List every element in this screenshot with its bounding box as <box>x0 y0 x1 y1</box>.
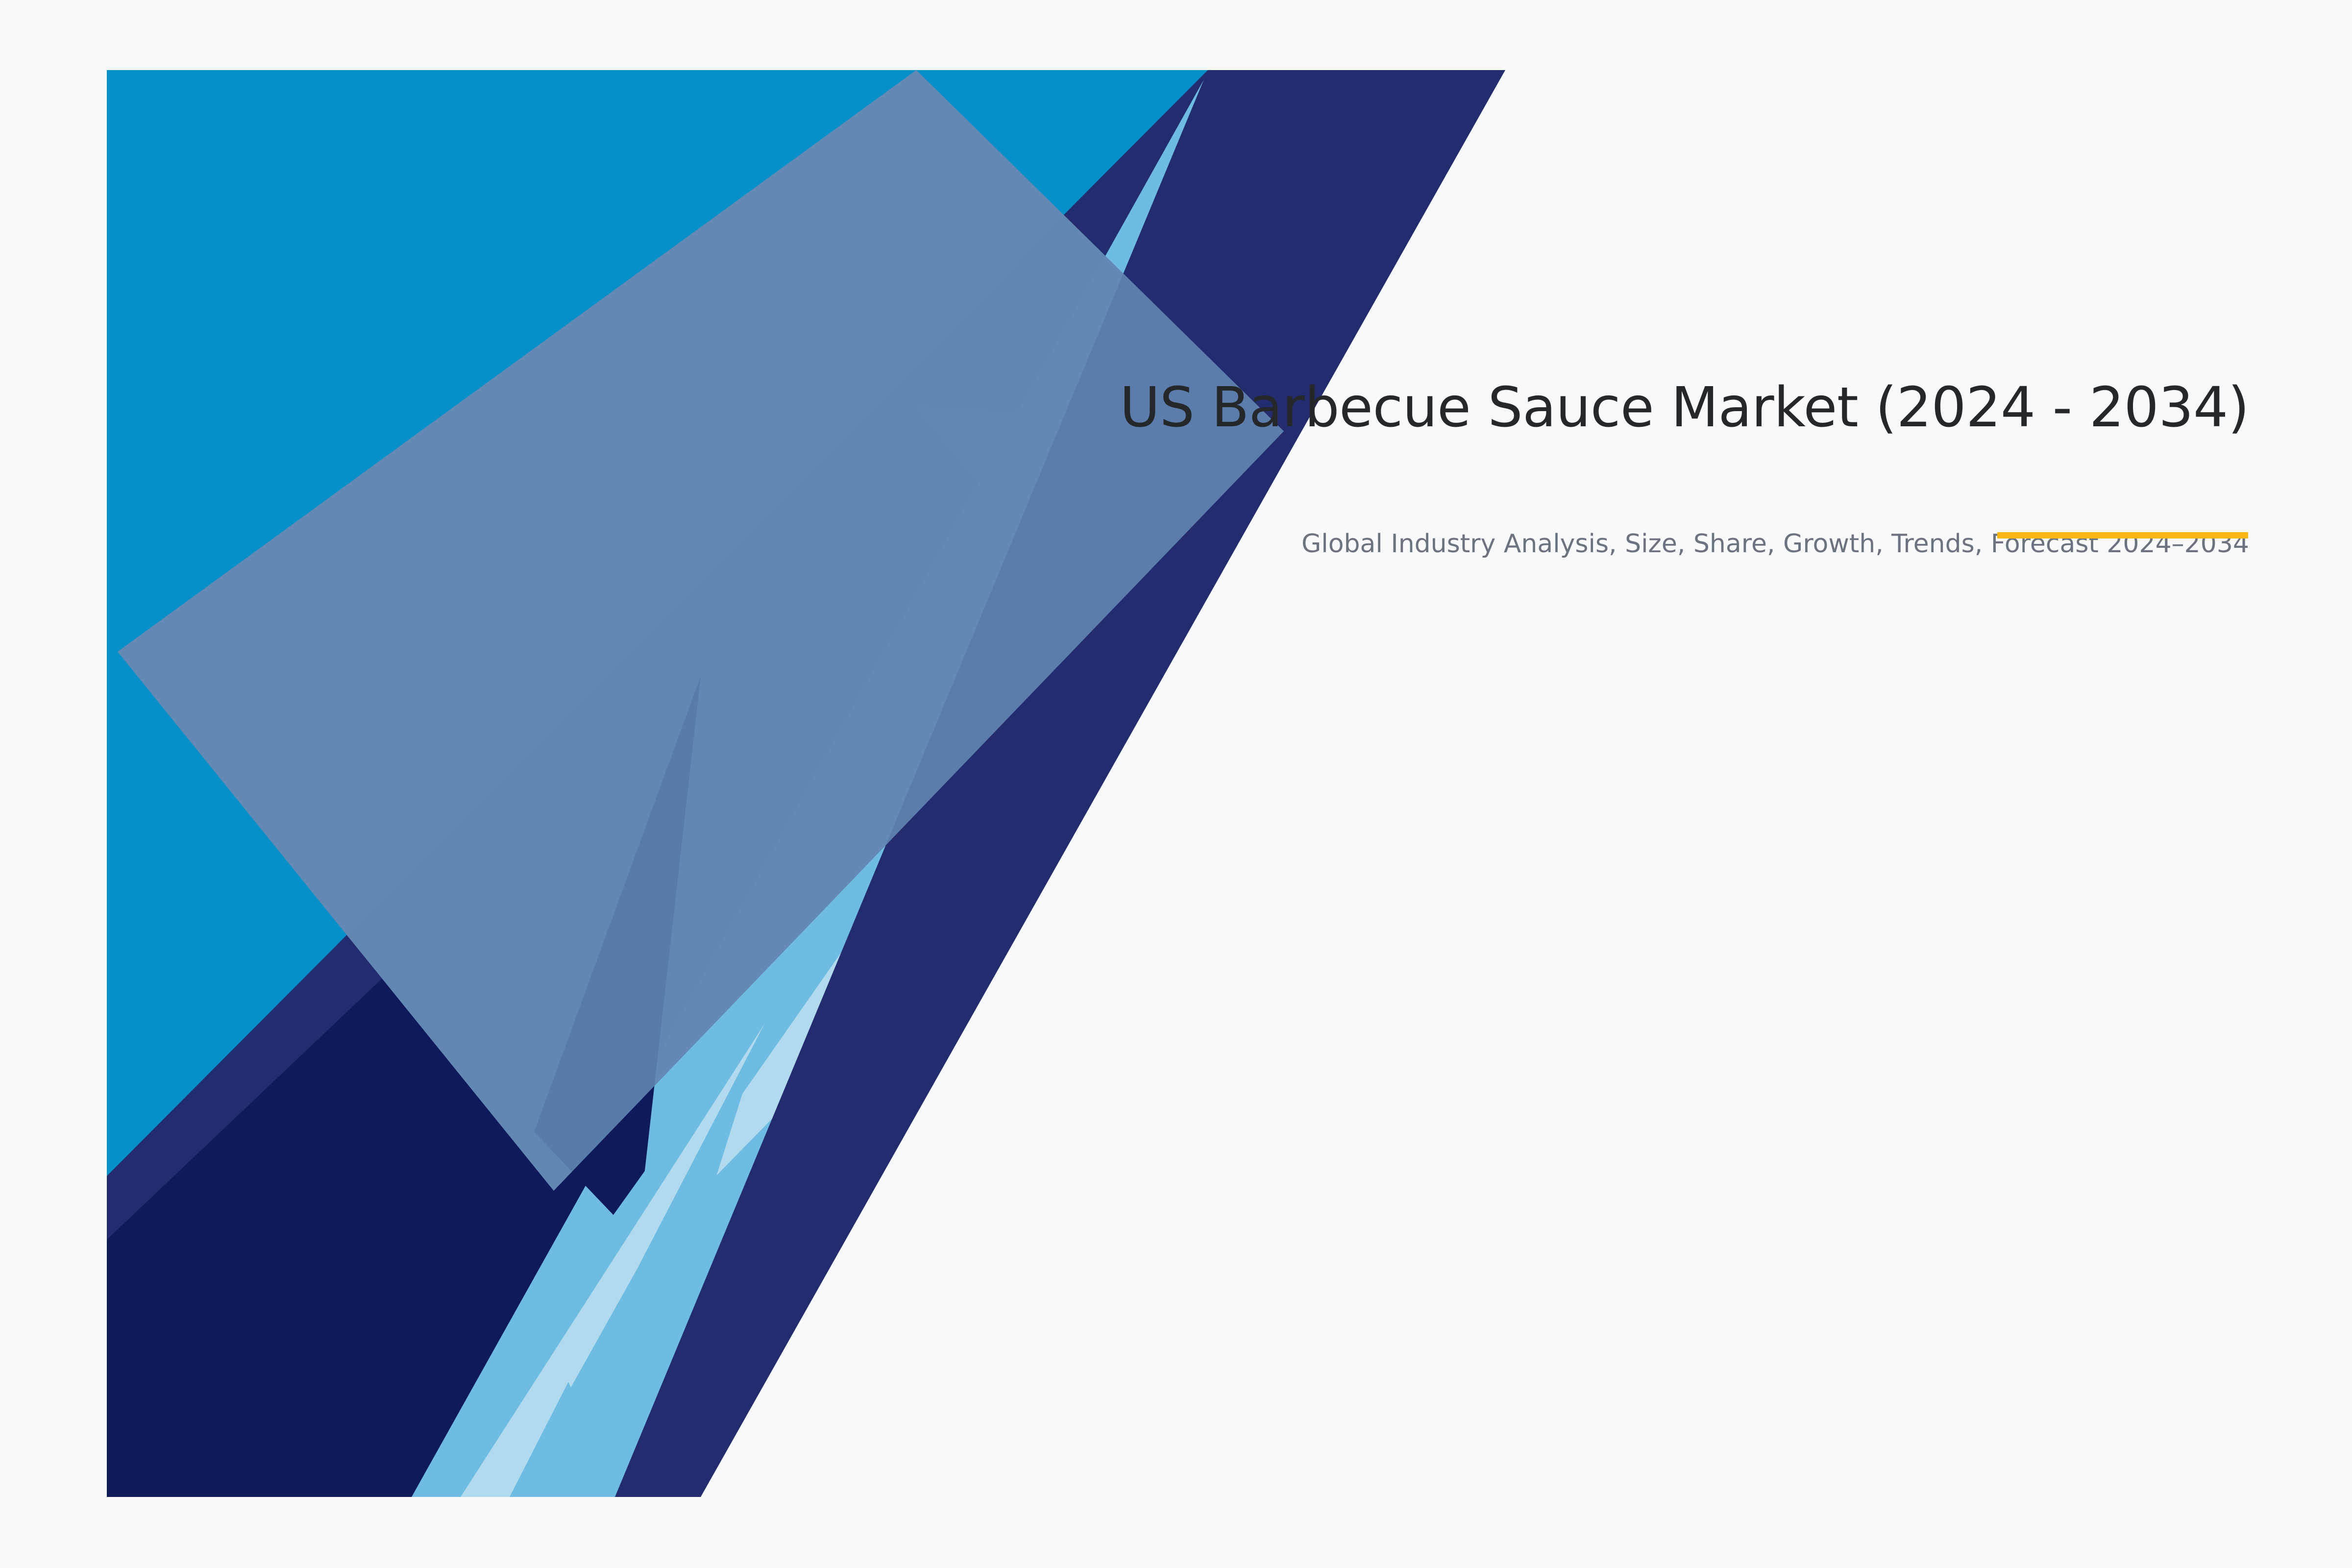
title-wrapper: US Barbecue Sauce Market (2024 - 2034) <box>955 372 2249 444</box>
artwork-mask-top <box>0 0 2352 70</box>
cover-text-block: US Barbecue Sauce Market (2024 - 2034) G… <box>955 372 2249 562</box>
slide-canvas: US Barbecue Sauce Market (2024 - 2034) G… <box>0 0 2352 1568</box>
page-subtitle: Global Industry Analysis, Size, Share, G… <box>955 444 2249 562</box>
artwork-mask-left <box>0 0 107 1568</box>
page-title: US Barbecue Sauce Market (2024 - 2034) <box>955 372 2249 444</box>
geometric-cover-artwork <box>0 0 2352 1568</box>
title-underline-accent <box>1997 532 2248 539</box>
